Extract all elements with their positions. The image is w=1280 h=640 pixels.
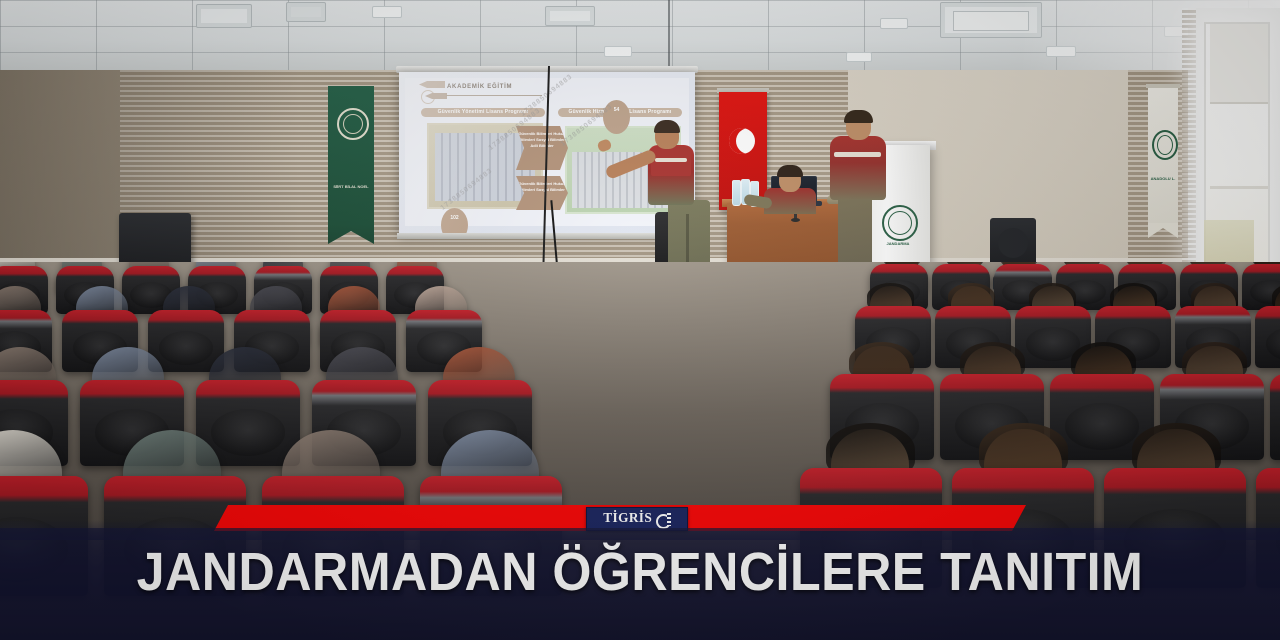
school-banner-green: SİİRT BİLAL NOEL bbox=[328, 86, 374, 226]
news-photo-stage: SİİRT BİLAL NOEL ANADOLU L. AKADEMİK EĞİ… bbox=[0, 0, 1280, 640]
seated-officer-hair bbox=[777, 165, 803, 177]
lectern-crest-label: JANDARMA bbox=[866, 241, 930, 246]
presenter-hair bbox=[654, 120, 680, 133]
ceiling-light bbox=[880, 18, 908, 29]
film-camera-icon bbox=[656, 512, 672, 526]
presenter-vest bbox=[651, 146, 691, 176]
auditorium-seat bbox=[1255, 306, 1280, 368]
ceiling-light bbox=[604, 46, 632, 57]
headline-text: JANDARMADAN ÖĞRENCİLERE TANITIM bbox=[45, 545, 1235, 599]
lectern-officer-vest-stripe bbox=[834, 152, 881, 157]
screen-weight-bar bbox=[397, 233, 697, 239]
ceiling-light bbox=[372, 6, 402, 18]
logo-text: TİGRİS bbox=[604, 511, 653, 527]
window-mullion bbox=[1210, 186, 1268, 189]
banner-white-label: ANADOLU L. bbox=[1148, 176, 1178, 182]
auditorium-seat bbox=[1270, 374, 1280, 460]
water-bottle bbox=[732, 180, 741, 206]
lectern-officer-hair bbox=[844, 110, 873, 123]
flag-star-icon bbox=[746, 140, 755, 149]
window-blind bbox=[1210, 24, 1268, 104]
gendarmerie-crest-icon bbox=[882, 205, 918, 241]
school-banner-white: ANADOLU L. bbox=[1148, 88, 1178, 224]
school-crest-icon bbox=[1152, 130, 1178, 160]
ceiling-seam bbox=[668, 0, 670, 74]
school-crest-icon bbox=[337, 108, 369, 140]
ceiling-light bbox=[846, 52, 872, 62]
banner-green-label: SİİRT BİLAL NOEL bbox=[328, 184, 374, 190]
ac-vent-icon bbox=[196, 4, 252, 28]
ac-vent-icon bbox=[286, 2, 326, 22]
ceiling bbox=[0, 0, 1280, 74]
lectern-officer-torso bbox=[830, 136, 886, 200]
ac-vent-icon bbox=[545, 6, 595, 26]
